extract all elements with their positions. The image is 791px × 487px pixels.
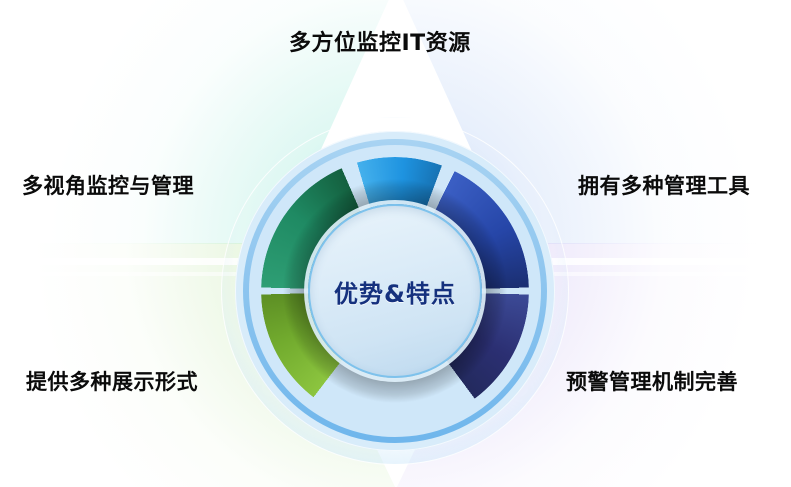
center-disc: 优势&特点: [308, 204, 482, 378]
label-left-bottom: 提供多种展示形式: [26, 366, 198, 396]
label-right-top: 拥有多种管理工具: [578, 170, 750, 200]
center-label: 优势&特点: [334, 274, 456, 309]
label-top: 多方位监控IT资源: [289, 25, 471, 57]
label-right-bottom: 预警管理机制完善: [566, 366, 738, 396]
infographic-canvas: 优势&特点 多方位监控IT资源 多视角监控与管理 提供多种展示形式 拥有多种管理…: [0, 0, 791, 487]
label-left-top: 多视角监控与管理: [22, 170, 194, 200]
ring-diagram: 优势&特点: [221, 117, 569, 465]
